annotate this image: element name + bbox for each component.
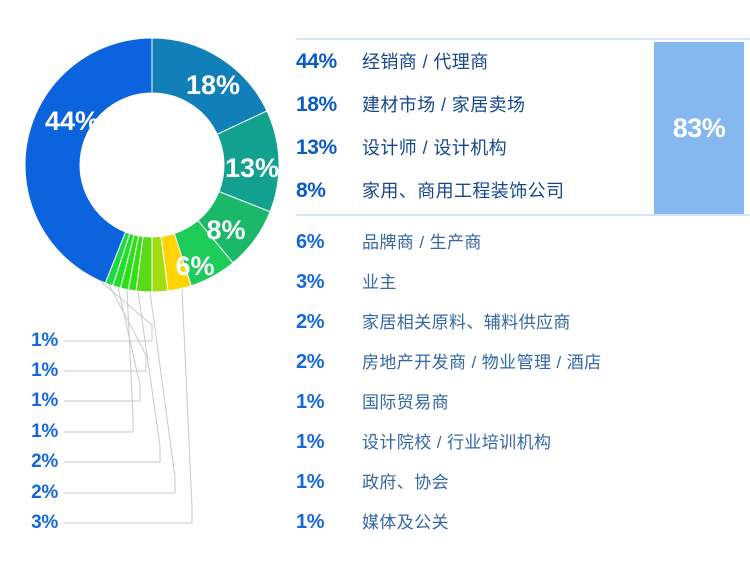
donut-slice-value-label: 44%	[45, 106, 99, 136]
legend-row-label: 品牌商 / 生产商	[362, 228, 482, 253]
legend-row-percent: 8%	[296, 179, 362, 203]
legend-row-percent: 44%	[296, 50, 362, 74]
callout-percent-label: 1%	[0, 361, 58, 380]
legend-row-percent: 2%	[296, 351, 362, 374]
leader-line	[64, 287, 140, 401]
legend-row-label: 政府、协会	[362, 468, 449, 493]
donut-slice-value-label: 18%	[186, 70, 240, 100]
legend-row-label: 房地产开发商 / 物业管理 / 酒店	[362, 348, 602, 373]
leader-line	[64, 292, 175, 493]
legend-row-percent: 3%	[296, 271, 362, 294]
legend-row: 2%房地产开发商 / 物业管理 / 酒店	[296, 348, 750, 388]
highlight-total-badge-value: 83%	[673, 113, 726, 144]
legend-row: 3%业主	[296, 268, 750, 308]
donut-slice-value-label: 6%	[175, 251, 214, 281]
callout-percent-label: 2%	[0, 483, 58, 502]
legend-row-percent: 18%	[296, 93, 362, 117]
legend-row-percent: 13%	[296, 136, 362, 160]
legend-row-label: 媒体及公关	[362, 508, 449, 533]
callout-percent-label: 1%	[0, 331, 58, 350]
legend-row-label: 家居相关原料、辅料供应商	[362, 308, 571, 333]
legend-row-label: 经销商 / 代理商	[362, 48, 489, 74]
donut-chart: 44%18%13%8%6% 1%1%1%1%2%2%3%	[0, 0, 300, 579]
legend-row-percent: 1%	[296, 391, 362, 414]
infographic-canvas: 44%18%13%8%6% 1%1%1%1%2%2%3% 44%经销商 / 代理…	[0, 0, 750, 579]
legend-row-percent: 1%	[296, 431, 362, 454]
leader-line	[64, 288, 192, 523]
donut-slice-value-label: 8%	[206, 215, 245, 245]
donut-slice-value-label: 13%	[225, 153, 279, 183]
callout-percent-label: 1%	[0, 422, 58, 441]
leader-line	[64, 291, 160, 462]
legend-row-label: 设计师 / 设计机构	[362, 134, 507, 160]
legend-row-label: 设计院校 / 行业培训机构	[362, 428, 551, 453]
legend-secondary-rows: 6%品牌商 / 生产商3%业主2%家居相关原料、辅料供应商2%房地产开发商 / …	[296, 228, 750, 548]
legend-row-label: 国际贸易商	[362, 388, 449, 413]
callout-percent-label: 3%	[0, 513, 58, 532]
legend-row: 1%政府、协会	[296, 468, 750, 508]
legend-row-percent: 6%	[296, 231, 362, 254]
legend-row: 2%家居相关原料、辅料供应商	[296, 308, 750, 348]
callout-percent-label: 2%	[0, 452, 58, 471]
legend-row: 1%媒体及公关	[296, 508, 750, 548]
legend-row-percent: 1%	[296, 511, 362, 534]
callout-percent-label: 1%	[0, 391, 58, 410]
legend-row-label: 建材市场 / 家居卖场	[362, 91, 525, 117]
legend-secondary-block: 6%品牌商 / 生产商3%业主2%家居相关原料、辅料供应商2%房地产开发商 / …	[296, 228, 750, 548]
legend-row: 1%设计院校 / 行业培训机构	[296, 428, 750, 468]
legend-row-label: 业主	[362, 268, 397, 293]
legend-panel: 44%经销商 / 代理商18%建材市场 / 家居卖场13%设计师 / 设计机构8…	[296, 0, 750, 579]
leader-lines-group	[64, 281, 192, 523]
legend-row: 1%国际贸易商	[296, 388, 750, 428]
legend-highlight-block: 44%经销商 / 代理商18%建材市场 / 家居卖场13%设计师 / 设计机构8…	[296, 38, 750, 216]
legend-row: 6%品牌商 / 生产商	[296, 228, 750, 268]
highlight-total-badge: 83%	[654, 42, 744, 214]
legend-row-percent: 2%	[296, 311, 362, 334]
legend-row-percent: 1%	[296, 471, 362, 494]
legend-row-label: 家用、商用工程装饰公司	[362, 177, 564, 203]
